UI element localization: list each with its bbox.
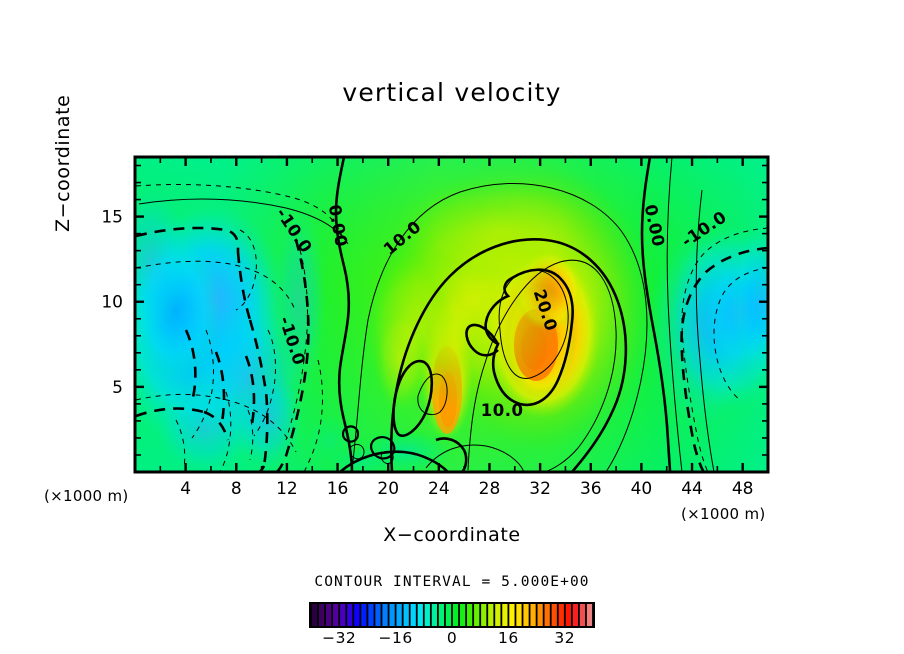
colorbar-band [523, 604, 528, 626]
colorbar-band [516, 604, 521, 626]
colorbar-band [389, 604, 394, 626]
y-axis-unit-label: (×1000 m) [44, 487, 129, 505]
colorbar-tick-labels: −32−1601632 [0, 629, 904, 651]
colorbar-band [587, 604, 592, 626]
x-tick-label: 44 [681, 479, 703, 499]
x-tick-label: 20 [377, 479, 399, 499]
colorbar-band [375, 604, 380, 626]
x-tick-label: 40 [631, 479, 653, 499]
y-tick-label: 10 [101, 293, 123, 313]
colorbar-tick-label: −16 [378, 629, 412, 647]
colorbar-band [347, 604, 352, 626]
colorbar-tick-label: 16 [498, 629, 519, 647]
colorbar-band [481, 604, 486, 626]
colorbar-band [545, 604, 550, 626]
colorbar-band [573, 604, 578, 626]
contour-label: 10.0 [481, 401, 524, 420]
colorbar-band [538, 604, 543, 626]
x-tick-label: 48 [732, 479, 754, 499]
colorbar-band [411, 604, 416, 626]
colorbar-tick-label: −32 [322, 629, 356, 647]
x-axis-unit-label: (×1000 m) [681, 505, 766, 523]
y-axis-label: Z−coordinate [52, 32, 74, 232]
x-tick-label: 8 [231, 479, 242, 499]
colorbar-band [467, 604, 472, 626]
colorbar-band [439, 604, 444, 626]
colorbar-band [530, 604, 535, 626]
y-tick-label: 5 [112, 378, 123, 398]
colorbar-band [453, 604, 458, 626]
figure-canvas: vertical velocity [0, 0, 904, 654]
colorbar-band [382, 604, 387, 626]
colorbar-band [552, 604, 557, 626]
x-tick-label: 32 [529, 479, 551, 499]
x-tick-label: 36 [580, 479, 602, 499]
y-tick-label: 15 [101, 208, 123, 228]
colorbar-band [460, 604, 465, 626]
colorbar-band [397, 604, 402, 626]
colorbar-band [319, 604, 324, 626]
colorbar-band [354, 604, 359, 626]
colorbar-tick-label: 0 [447, 629, 457, 647]
colorbar-band [559, 604, 564, 626]
colorbar-band [495, 604, 500, 626]
colorbar-band [312, 604, 317, 626]
colorbar-band [488, 604, 493, 626]
x-axis-label: X−coordinate [0, 524, 904, 546]
colorbar-band [425, 604, 430, 626]
colorbar-band [361, 604, 366, 626]
colorbar-band [368, 604, 373, 626]
colorbar-tick-label: 32 [554, 629, 575, 647]
x-tick-label: 24 [428, 479, 450, 499]
colorbar-band [333, 604, 338, 626]
x-tick-label: 16 [327, 479, 349, 499]
colorbar-band [404, 604, 409, 626]
x-tick-label: 12 [276, 479, 298, 499]
contour-interval-caption: CONTOUR INTERVAL = 5.000E+00 [0, 574, 904, 590]
colorbar-band [446, 604, 451, 626]
x-tick-label: 4 [180, 479, 191, 499]
colorbar-band [432, 604, 437, 626]
colorbar-band [509, 604, 514, 626]
colorbar-band [474, 604, 479, 626]
colorbar-band [326, 604, 331, 626]
colorbar-band [566, 604, 571, 626]
colorbar [309, 602, 595, 628]
contour-plot: 481216202428323640444851015 -10.0-10.00.… [0, 0, 904, 654]
x-tick-label: 28 [479, 479, 501, 499]
colorbar-band [502, 604, 507, 626]
colorbar-band [580, 604, 585, 626]
colorbar-band [418, 604, 423, 626]
colorbar-band [340, 604, 345, 626]
